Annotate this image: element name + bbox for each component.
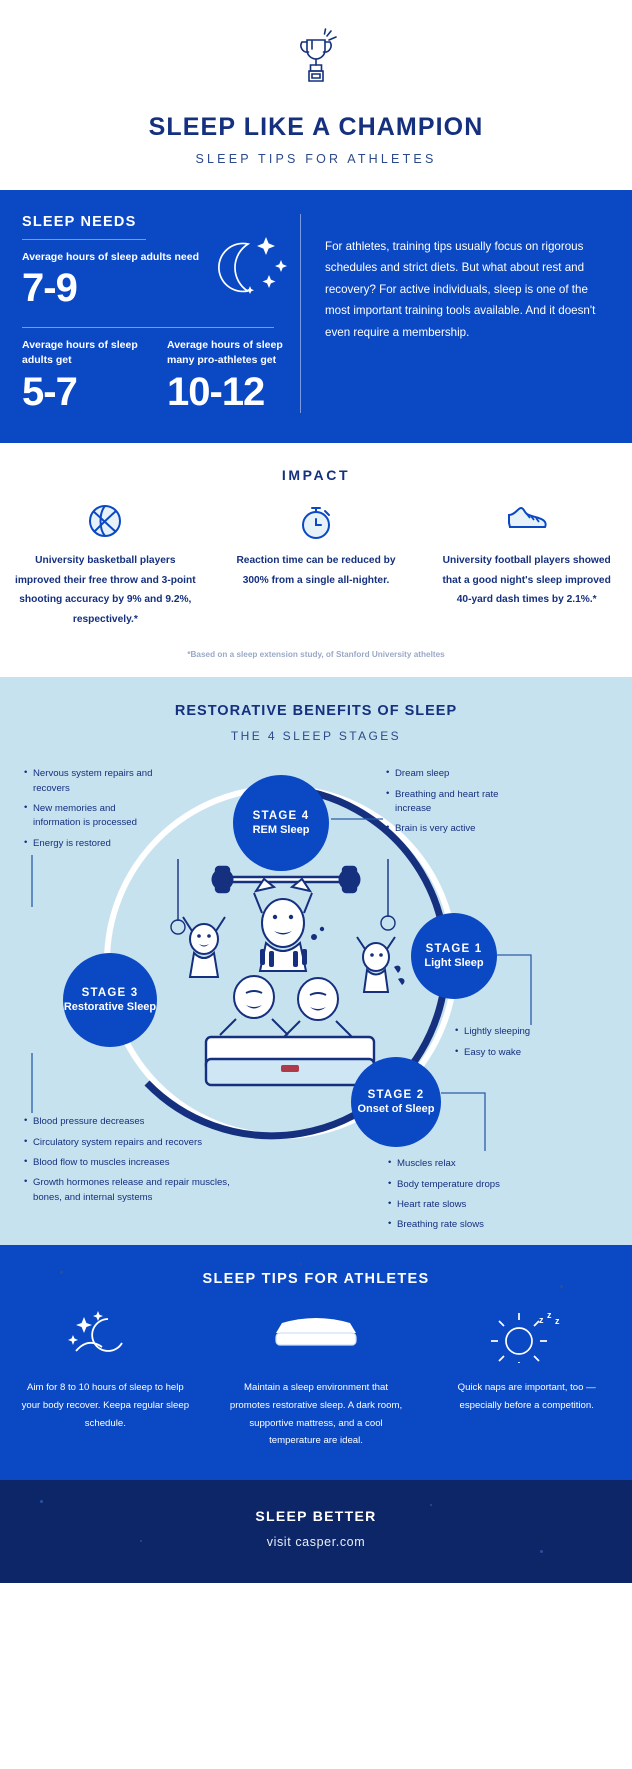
list-item: Lightly sleeping [455, 1025, 585, 1039]
footer-link[interactable]: visit casper.com [0, 1535, 632, 1549]
trophy-icon [0, 28, 632, 95]
list-item: Energy is restored [24, 837, 156, 851]
moon-stars-icon [204, 232, 290, 323]
list-item: Blood flow to muscles increases [24, 1156, 234, 1170]
stage-4-badge[interactable]: STAGE 4 REM Sleep [233, 775, 329, 871]
list-item: Easy to wake [455, 1046, 585, 1060]
divider [22, 327, 274, 328]
star-decoration [40, 1500, 43, 1503]
sleep-needs-secondary: Average hours of sleep adults get 5-7 Av… [22, 338, 294, 412]
restorative-heading: RESTORATIVE BENEFITS OF SLEEP [0, 703, 632, 719]
sleep-needs-paragraph: For athletes, training tips usually focu… [300, 214, 610, 413]
divider [22, 239, 146, 240]
stage-desc: Onset of Sleep [357, 1103, 434, 1117]
impact-heading: IMPACT [0, 467, 632, 483]
impact-item: University basketball players improved t… [0, 503, 211, 631]
sleep-needs-stats: SLEEP NEEDS Average hours of sleep adult… [22, 214, 294, 413]
stage-2-badge[interactable]: STAGE 2 Onset of Sleep [351, 1057, 441, 1147]
list-item: Circulatory system repairs and recovers [24, 1136, 234, 1150]
impact-item-text: University football players showed that … [435, 551, 618, 611]
tips-item-text: Aim for 8 to 10 hours of sleep to help y… [18, 1379, 193, 1432]
footer-title: SLEEP BETTER [0, 1508, 632, 1524]
impact-item: Reaction time can be reduced by 300% fro… [211, 503, 422, 631]
stage-3-badge[interactable]: STAGE 3 Restorative Sleep [63, 953, 157, 1047]
stage-name: STAGE 1 [426, 942, 483, 956]
tips-section: SLEEP TIPS FOR ATHLETES [0, 1245, 632, 1480]
sleep-needs-item: Average hours of sleep adults get 5-7 [22, 338, 149, 412]
stage-4-bullets: Dream sleep Breathing and heart rate inc… [386, 767, 524, 843]
stage-2-bullets: Muscles relax Body temperature drops Hea… [388, 1157, 538, 1239]
star-decoration [540, 1550, 543, 1553]
sleep-needs-value: 5-7 [22, 371, 149, 413]
sleep-needs-section: SLEEP NEEDS Average hours of sleep adult… [0, 190, 632, 443]
svg-text:z: z [547, 1310, 552, 1320]
list-item: Growth hormones release and repair muscl… [24, 1176, 234, 1205]
moon-sparkles-icon [18, 1309, 193, 1365]
tips-items: Aim for 8 to 10 hours of sleep to help y… [0, 1309, 632, 1450]
stage-1-bullets: Lightly sleeping Easy to wake [455, 1025, 585, 1066]
list-item: New memories and information is processe… [24, 802, 156, 831]
stage-name: STAGE 3 [82, 986, 139, 1000]
list-item: Brain is very active [386, 822, 524, 836]
svg-text:z: z [539, 1315, 544, 1325]
sneaker-icon [435, 503, 618, 539]
list-item: Muscles relax [388, 1157, 538, 1171]
stage-1-badge[interactable]: STAGE 1 Light Sleep [411, 913, 497, 999]
sleep-needs-label: Average hours of sleep adults get [22, 338, 149, 368]
footer-section: SLEEP BETTER visit casper.com [0, 1480, 632, 1583]
impact-item-text: Reaction time can be reduced by 300% fro… [225, 551, 408, 591]
impact-footnote: *Based on a sleep extension study, of St… [0, 650, 632, 659]
list-item: Body temperature drops [388, 1178, 538, 1192]
impact-items: University basketball players improved t… [0, 503, 632, 631]
restorative-section: RESTORATIVE BENEFITS OF SLEEP THE 4 SLEE… [0, 677, 632, 1245]
stage-3-bullets-top: Nervous system repairs and recovers New … [24, 767, 156, 857]
stopwatch-icon [225, 503, 408, 539]
tips-item: Maintain a sleep environment that promot… [211, 1309, 422, 1450]
stage-3-bullets-bottom: Blood pressure decreases Circulatory sys… [24, 1115, 234, 1211]
stage-desc: REM Sleep [253, 824, 310, 838]
impact-item: University football players showed that … [421, 503, 632, 631]
restorative-subheading: THE 4 SLEEP STAGES [0, 729, 632, 743]
list-item: Heart rate slows [388, 1198, 538, 1212]
sleep-needs-label: Average hours of sleep many pro-athletes… [167, 338, 294, 368]
stage-name: STAGE 2 [368, 1088, 425, 1102]
sleep-needs-value: 10-12 [167, 371, 294, 413]
impact-section: IMPACT University basketball players imp… [0, 443, 632, 678]
impact-item-text: University basketball players improved t… [14, 551, 197, 631]
mattress-icon [229, 1309, 404, 1365]
star-decoration [300, 1263, 302, 1265]
stage-desc: Restorative Sleep [64, 1001, 156, 1015]
tips-item: Aim for 8 to 10 hours of sleep to help y… [0, 1309, 211, 1450]
tips-heading: SLEEP TIPS FOR ATHLETES [0, 1271, 632, 1287]
header-section: SLEEP LIKE A CHAMPION SLEEP TIPS FOR ATH… [0, 0, 632, 190]
infographic-page: SLEEP LIKE A CHAMPION SLEEP TIPS FOR ATH… [0, 0, 632, 1583]
tips-item-text: Maintain a sleep environment that promot… [229, 1379, 404, 1450]
list-item: Blood pressure decreases [24, 1115, 234, 1129]
sleep-needs-primary-label: Average hours of sleep adults need [22, 250, 222, 265]
sun-zzz-icon: z z z [439, 1309, 614, 1365]
star-decoration [430, 1504, 432, 1506]
sleep-needs-heading: SLEEP NEEDS [22, 214, 294, 230]
list-item: Nervous system repairs and recovers [24, 767, 156, 796]
stage-desc: Light Sleep [424, 957, 483, 971]
svg-text:z: z [555, 1316, 560, 1326]
star-decoration [560, 1285, 563, 1288]
page-subtitle: SLEEP TIPS FOR ATHLETES [0, 152, 632, 166]
stage-name: STAGE 4 [253, 809, 310, 823]
tips-item-text: Quick naps are important, too — especial… [439, 1379, 614, 1414]
basketball-icon [14, 503, 197, 539]
list-item: Breathing rate slows [388, 1218, 538, 1232]
sleep-needs-item: Average hours of sleep many pro-athletes… [167, 338, 294, 412]
tips-item: z z z Quick naps are important, too — es… [421, 1309, 632, 1450]
sleep-stages-diagram: STAGE 4 REM Sleep STAGE 1 Light Sleep ST… [0, 757, 632, 1223]
list-item: Dream sleep [386, 767, 524, 781]
page-title: SLEEP LIKE A CHAMPION [0, 113, 632, 142]
list-item: Breathing and heart rate increase [386, 788, 524, 817]
